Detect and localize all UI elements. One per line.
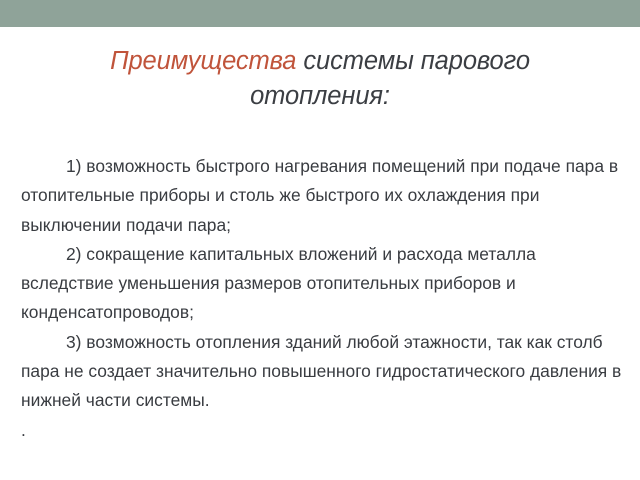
title-highlight-word: Преимущества bbox=[110, 47, 296, 75]
body-trailing-mark: . bbox=[21, 416, 625, 445]
slide-top-accent-band bbox=[0, 0, 640, 27]
body-paragraph-1: 1) возможность быстрого нагревания помещ… bbox=[21, 152, 625, 240]
slide-canvas: Преимущества системы парового отопления:… bbox=[0, 0, 640, 480]
body-paragraph-3: 3) возможность отопления зданий любой эт… bbox=[21, 328, 625, 416]
body-paragraph-2: 2) сокращение капитальных вложений и рас… bbox=[21, 240, 625, 328]
slide-title: Преимущества системы парового отопления: bbox=[40, 44, 600, 114]
slide-body: 1) возможность быстрого нагревания помещ… bbox=[21, 152, 625, 445]
